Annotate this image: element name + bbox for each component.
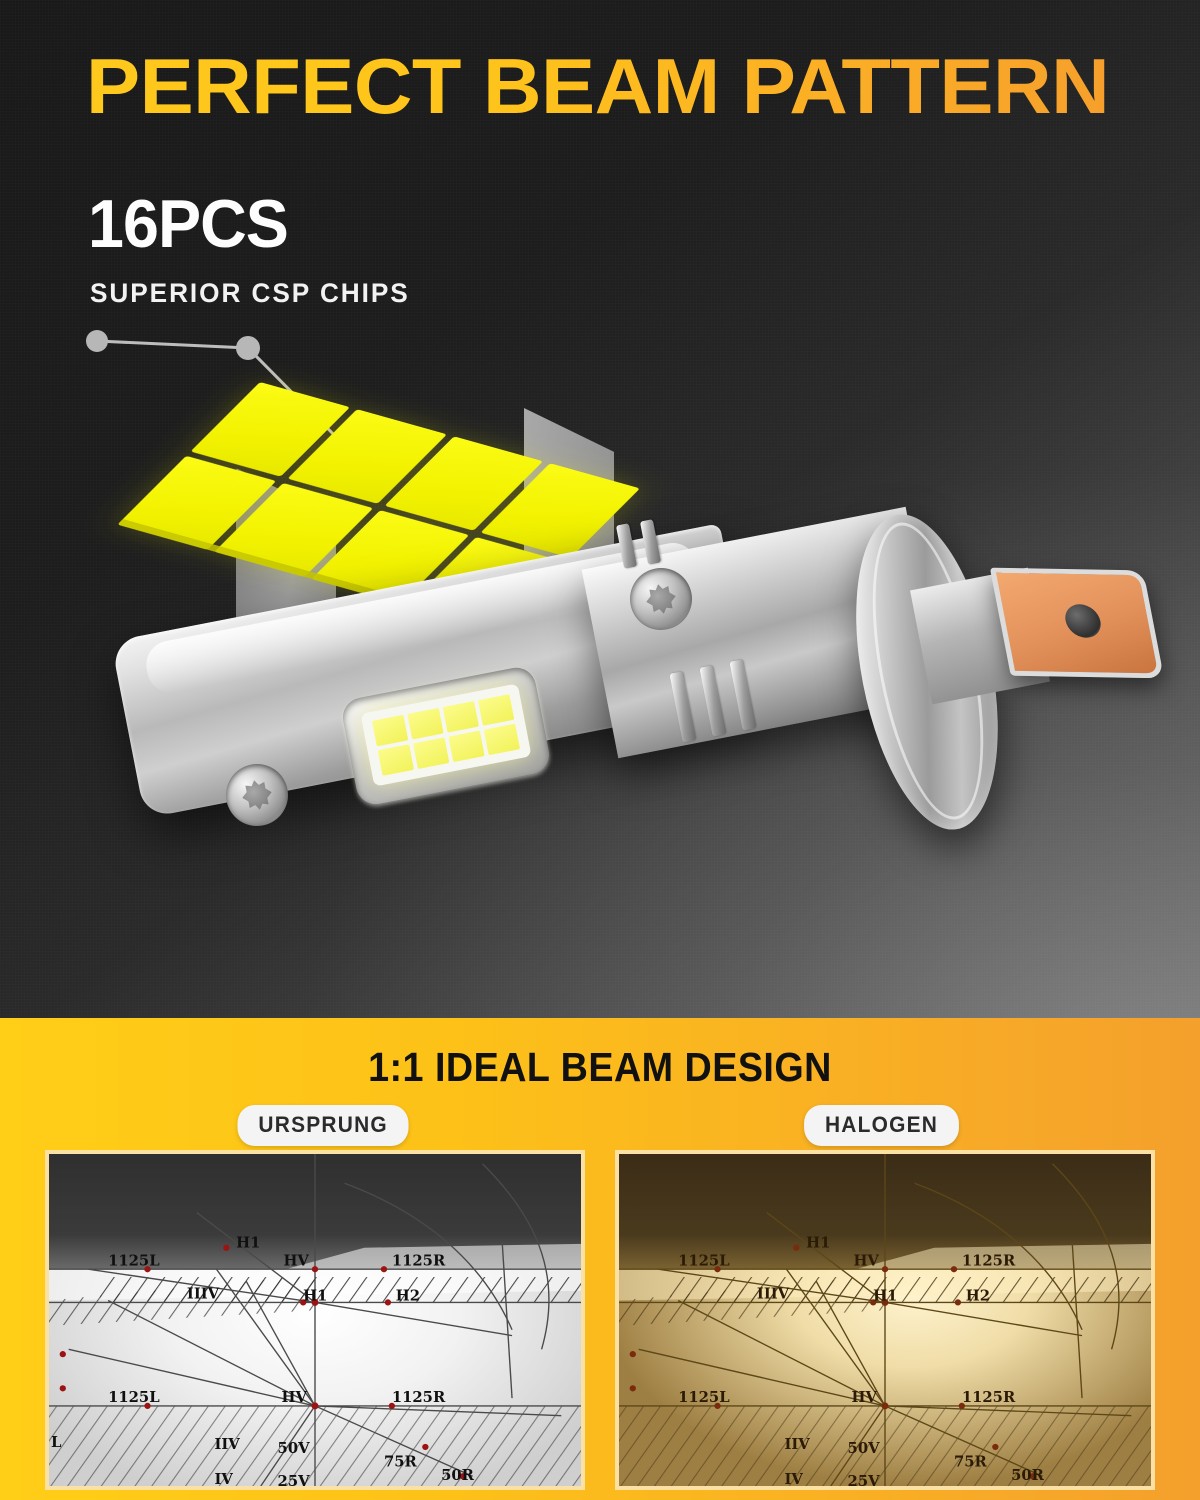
beam-label: IV	[215, 1471, 234, 1486]
beam-label: 1125R	[962, 1389, 1016, 1406]
ursprung-beam-photo: 1125L HV H1 1125R IIIV H1 H2 HV 1125L 11…	[45, 1150, 585, 1490]
beam-label: 1125L	[678, 1252, 730, 1269]
beam-label: IIIV	[757, 1286, 790, 1303]
beam-label: IIV	[785, 1436, 811, 1453]
beam-label: IIV	[215, 1436, 241, 1453]
led-cell	[378, 744, 414, 776]
label-halogen: HALOGEN	[804, 1105, 959, 1146]
beam-label: H1	[236, 1235, 260, 1252]
chip-count-label: 16PCS	[88, 187, 288, 261]
halogen-beam-photo: 1125L HV H1 1125R IIIV H1 H2 HV 1125L 11…	[615, 1150, 1155, 1490]
led-cell	[448, 730, 484, 762]
beam-label: 25V	[848, 1473, 881, 1486]
beam-label: 75R	[954, 1454, 988, 1471]
beam-label: 50R	[1011, 1467, 1045, 1484]
led-cell	[478, 694, 514, 726]
beam-label: HV	[853, 1252, 879, 1269]
beam-label: 1125L	[678, 1389, 730, 1406]
beam-label: HV	[282, 1389, 308, 1406]
beam-label: H2	[966, 1288, 990, 1305]
beam-label: HV	[852, 1389, 878, 1406]
torx-head-icon	[239, 777, 274, 812]
beam-label: 50V	[848, 1440, 881, 1457]
beam-label: IIIV	[187, 1286, 220, 1303]
beam-label: H1	[806, 1235, 830, 1252]
beam-label: 50V	[278, 1440, 311, 1457]
led-bulb-product-image	[120, 372, 1100, 952]
beam-label: 1125R	[392, 1252, 446, 1269]
led-cell	[413, 737, 449, 769]
beam-label: 1125R	[392, 1389, 446, 1406]
beam-label: H2	[396, 1288, 420, 1305]
beam-label: 1125L	[108, 1389, 160, 1406]
label-ursprung: URSPRUNG	[238, 1105, 409, 1146]
banner-title: 1:1 IDEAL BEAM DESIGN	[48, 1044, 1152, 1091]
beam-label: IV	[785, 1471, 804, 1486]
beam-label: 75R	[384, 1454, 418, 1471]
beam-label: L	[51, 1434, 62, 1451]
beam-label: H1	[873, 1288, 897, 1305]
led-cell	[372, 715, 408, 747]
beam-label: HV	[283, 1252, 309, 1269]
torx-head-icon	[643, 581, 678, 616]
beam-label: H1	[303, 1288, 327, 1305]
led-cell	[484, 724, 520, 756]
chip-caption-label: SUPERIOR CSP CHIPS	[90, 278, 410, 309]
beam-label: 1125L	[108, 1252, 160, 1269]
led-cell	[443, 701, 479, 733]
hero-section: PERFECT BEAM PATTERN 16PCS SUPERIOR CSP …	[0, 0, 1200, 1018]
beam-label: 1125R	[962, 1252, 1016, 1269]
beam-label: 25V	[278, 1473, 311, 1486]
beam-label: 50R	[441, 1467, 475, 1484]
page-title: PERFECT BEAM PATTERN	[86, 42, 1109, 130]
led-cell	[407, 708, 443, 740]
